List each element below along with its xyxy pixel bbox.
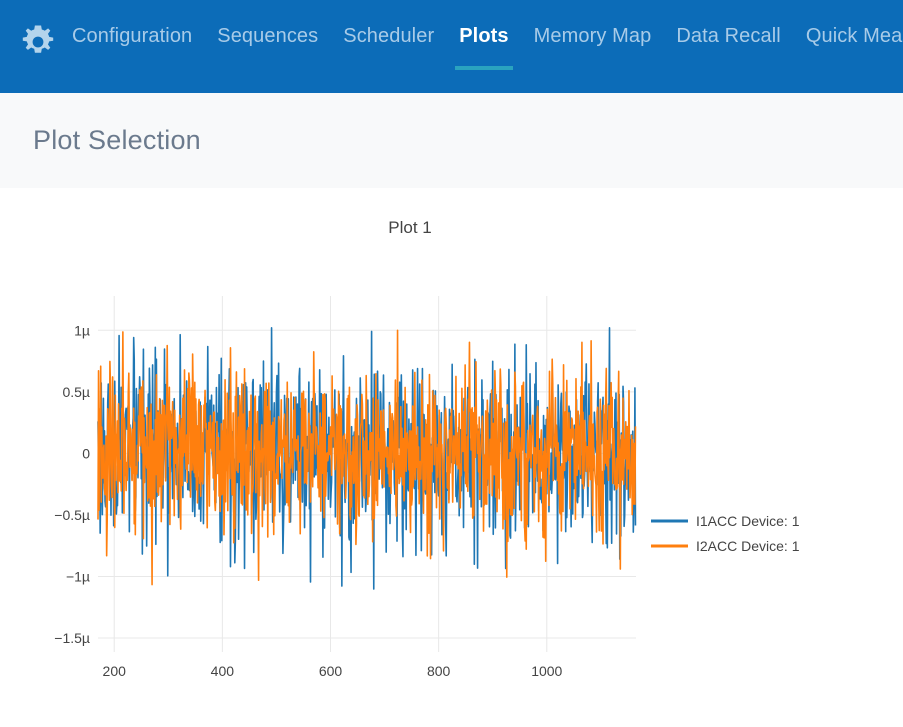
- y-tick-label: −1µ: [66, 568, 90, 584]
- nav-item-plots[interactable]: Plots: [459, 24, 508, 70]
- x-tick-label: 200: [103, 663, 127, 679]
- nav-item-label: Memory Map: [534, 25, 652, 47]
- y-tick-label: −0.5µ: [54, 507, 90, 523]
- nav-item-label: Sequences: [217, 25, 318, 47]
- chart-x-axis-labels: 2004006008001000: [103, 663, 563, 679]
- chart-canvas[interactable]: 2004006008001000 1µ0.5µ0−0.5µ−1µ−1.5µ I1…: [0, 188, 903, 727]
- x-tick-label: 1000: [531, 663, 562, 679]
- y-tick-label: 0.5µ: [62, 384, 90, 400]
- nav-item-memory-map[interactable]: Memory Map: [534, 24, 652, 70]
- x-tick-label: 800: [427, 663, 451, 679]
- chart-legend: I1ACC Device: 1I2ACC Device: 1: [651, 513, 800, 554]
- nav-item-list: Configuration Sequences Scheduler Plots …: [72, 24, 903, 70]
- nav-item-sequences[interactable]: Sequences: [217, 24, 318, 70]
- nav-item-label: Data Recall: [676, 25, 780, 47]
- x-tick-label: 600: [319, 663, 343, 679]
- y-tick-label: −1.5µ: [54, 630, 90, 646]
- legend-label[interactable]: I1ACC Device: 1: [696, 513, 800, 529]
- legend-label[interactable]: I2ACC Device: 1: [696, 538, 800, 554]
- nav-item-data-recall[interactable]: Data Recall: [676, 24, 780, 70]
- nav-item-label: Configuration: [72, 25, 192, 47]
- page-header-band: Plot Selection: [0, 93, 903, 188]
- page-title: Plot Selection: [33, 125, 201, 156]
- nav-item-label: Quick Measure: [806, 25, 903, 47]
- nav-item-scheduler[interactable]: Scheduler: [343, 24, 434, 70]
- plot-panel: Plot 1 2004006008001000 1µ0.5µ0−0.5µ−1µ−…: [0, 188, 903, 727]
- nav-item-configuration[interactable]: Configuration: [72, 24, 192, 70]
- nav-item-label: Scheduler: [343, 25, 434, 47]
- x-tick-label: 400: [211, 663, 235, 679]
- chart-series-layer: [98, 328, 635, 589]
- y-tick-label: 0: [82, 445, 90, 461]
- top-navigation-bar: Configuration Sequences Scheduler Plots …: [0, 0, 903, 93]
- nav-item-label: Plots: [459, 25, 508, 47]
- y-tick-label: 1µ: [74, 322, 90, 338]
- nav-item-quick-measure[interactable]: Quick Measure: [806, 24, 903, 70]
- chart-y-axis-labels: 1µ0.5µ0−0.5µ−1µ−1.5µ: [54, 322, 90, 646]
- gear-icon[interactable]: [18, 22, 58, 62]
